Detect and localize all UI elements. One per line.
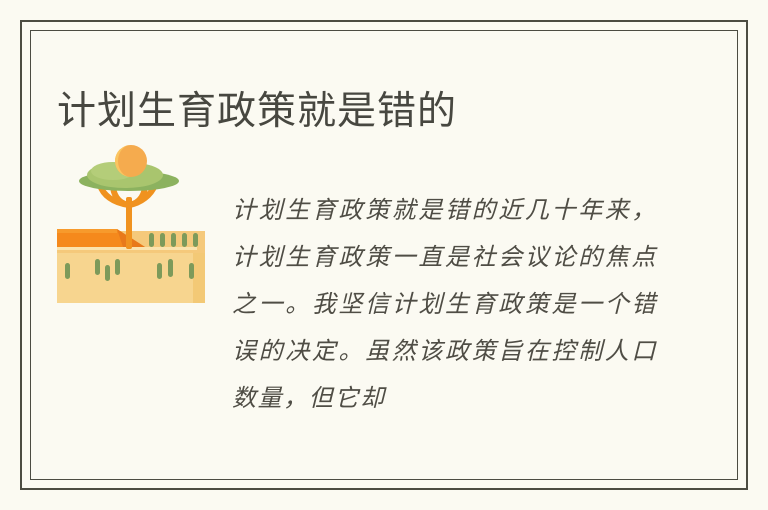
page-title: 计划生育政策就是错的: [57, 88, 457, 137]
body-paragraph: 计划生育政策就是错的近几十年来，计划生育政策一直是社会议论的焦点之一。我坚信计划…: [232, 187, 657, 422]
hill-top-strip: [57, 229, 117, 233]
savanna-landscape-illustration: [57, 145, 205, 303]
slide-page: 计划生育政策就是错的: [0, 0, 768, 510]
ground-lower-band: [57, 249, 205, 303]
content-area: 计划生育政策就是错的近几十年来，计划生育政策一直是社会议论的焦点之一。我坚信计划…: [57, 145, 657, 410]
